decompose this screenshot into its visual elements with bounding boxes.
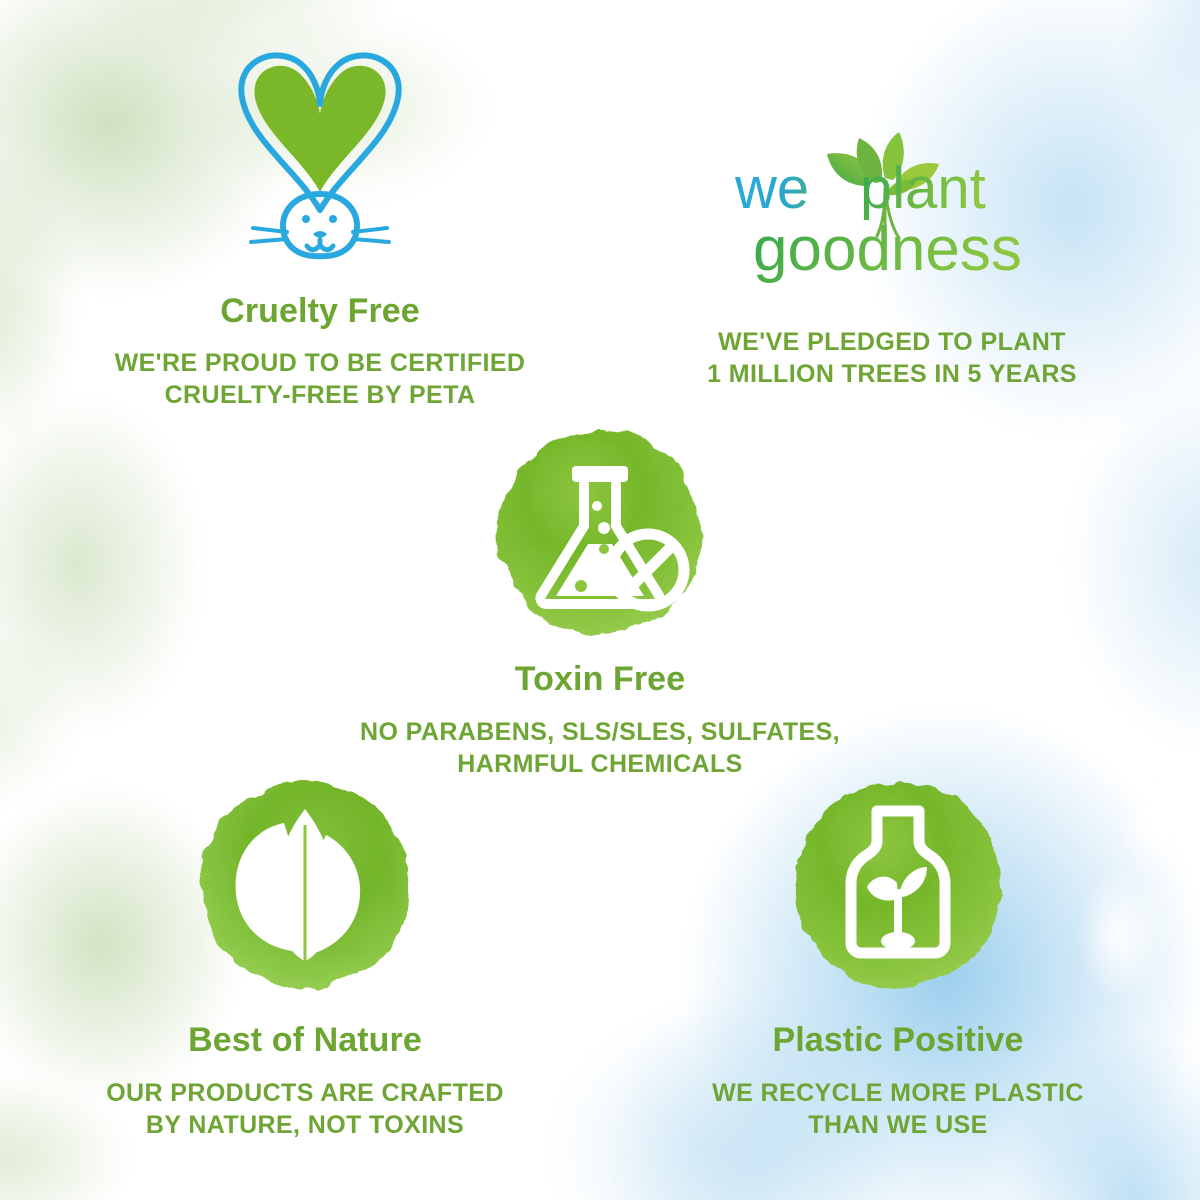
heart-fill xyxy=(254,66,385,192)
badge-desc-line: THAN WE USE xyxy=(808,1111,987,1139)
bunny-eye-right xyxy=(329,215,337,223)
flask-no-toxins-icon xyxy=(480,418,720,648)
badge-desc-line: WE RECYCLE MORE PLASTIC xyxy=(712,1079,1084,1107)
peta-bunny-heart-icon xyxy=(225,42,415,272)
badge-title-toxin-free: Toxin Free xyxy=(340,662,860,698)
badge-plastic-positive: Plastic Positive WE RECYCLE MORE PLASTIC… xyxy=(618,765,1178,1141)
badge-title-best-of-nature: Best of Nature xyxy=(25,1023,585,1059)
badge-cruelty-free: Cruelty Free WE'RE PROUD TO BE CERTIFIED… xyxy=(60,42,580,411)
badge-desc-line: BY NATURE, NOT TOXINS xyxy=(146,1111,464,1139)
badge-desc-line: WE'RE PROUD TO BE CERTIFIED xyxy=(115,349,526,377)
badge-desc-we-plant-goodness: WE'VE PLEDGED TO PLANT 1 MILLION TREES I… xyxy=(632,326,1152,390)
badge-desc-cruelty-free: WE'RE PROUD TO BE CERTIFIED CRUELTY-FREE… xyxy=(60,347,580,411)
badge-desc-line: CRUELTY-FREE BY PETA xyxy=(165,381,476,409)
logo-word-we: we xyxy=(734,156,809,221)
badge-desc-best-of-nature: OUR PRODUCTS ARE CRAFTED BY NATURE, NOT … xyxy=(25,1077,585,1141)
bottle-sprout-icon xyxy=(773,765,1023,1005)
we-plant-goodness-logo: we plant goodness xyxy=(727,128,1057,278)
bunny-eye-left xyxy=(302,215,310,223)
badge-desc-line: OUR PRODUCTS ARE CRAFTED xyxy=(106,1079,504,1107)
badge-title-plastic-positive: Plastic Positive xyxy=(618,1023,1178,1059)
logo-word-plant: plant xyxy=(860,156,986,221)
badge-desc-line: No PARABENS, SLS/SLES, SULFATES, xyxy=(360,718,840,746)
badge-desc-line: WE'VE PLEDGED TO PLANT xyxy=(718,328,1066,356)
badge-we-plant-goodness: we plant goodness WE'VE PLEDGED TO PLANT… xyxy=(632,128,1152,390)
badge-best-of-nature: Best of Nature OUR PRODUCTS ARE CRAFTED … xyxy=(25,765,585,1141)
bunny-nose xyxy=(313,231,327,238)
bunny-mouth xyxy=(307,240,333,250)
we-plant-goodness-logo-svg: we plant goodness xyxy=(727,128,1057,288)
badge-desc-plastic-positive: WE RECYCLE MORE PLASTIC THAN WE USE xyxy=(618,1077,1178,1141)
three-leaves-icon xyxy=(180,765,430,1005)
badge-title-cruelty-free: Cruelty Free xyxy=(60,294,580,330)
badge-desc-line: 1 MILLION TREES IN 5 YEARS xyxy=(707,360,1077,388)
infographic-canvas: Cruelty Free WE'RE PROUD TO BE CERTIFIED… xyxy=(0,0,1200,1200)
badge-icon-wrap xyxy=(60,42,580,272)
logo-word-goodness: goodness xyxy=(753,215,1022,284)
badge-toxin-free: Toxin Free No PARABENS, SLS/SLES, SULFAT… xyxy=(340,418,860,780)
